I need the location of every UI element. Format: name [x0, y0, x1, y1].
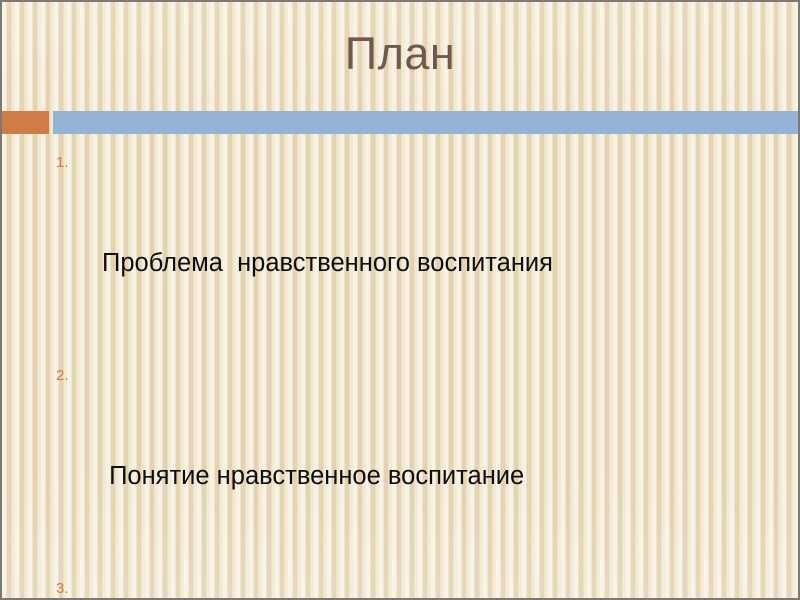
body-placeholder: 1. Проблема нравственного воспитания 2. … — [54, 144, 754, 600]
list-item-label: Проблема нравственного воспитания — [102, 246, 754, 280]
list-item-number: 3. — [56, 581, 90, 596]
accent-square-icon — [2, 111, 49, 134]
list-item-label: Понятие нравственное воспитание — [102, 459, 754, 493]
accent-bar — [53, 111, 800, 134]
list-item: 1. Проблема нравственного воспитания — [54, 144, 754, 348]
list-item-number: 1. — [56, 155, 90, 170]
plan-list: 1. Проблема нравственного воспитания 2. … — [54, 144, 754, 600]
slide-canvas: План 1. Проблема нравственного воспитани… — [0, 0, 800, 600]
list-item: 2. Понятие нравственное воспитание — [54, 357, 754, 561]
page-title: План — [345, 28, 455, 80]
list-item: 3. Задачи нравственного воспитания в раз… — [54, 570, 754, 600]
title-placeholder: План — [2, 28, 798, 80]
list-item-number: 2. — [56, 368, 90, 383]
title-divider — [2, 111, 800, 134]
